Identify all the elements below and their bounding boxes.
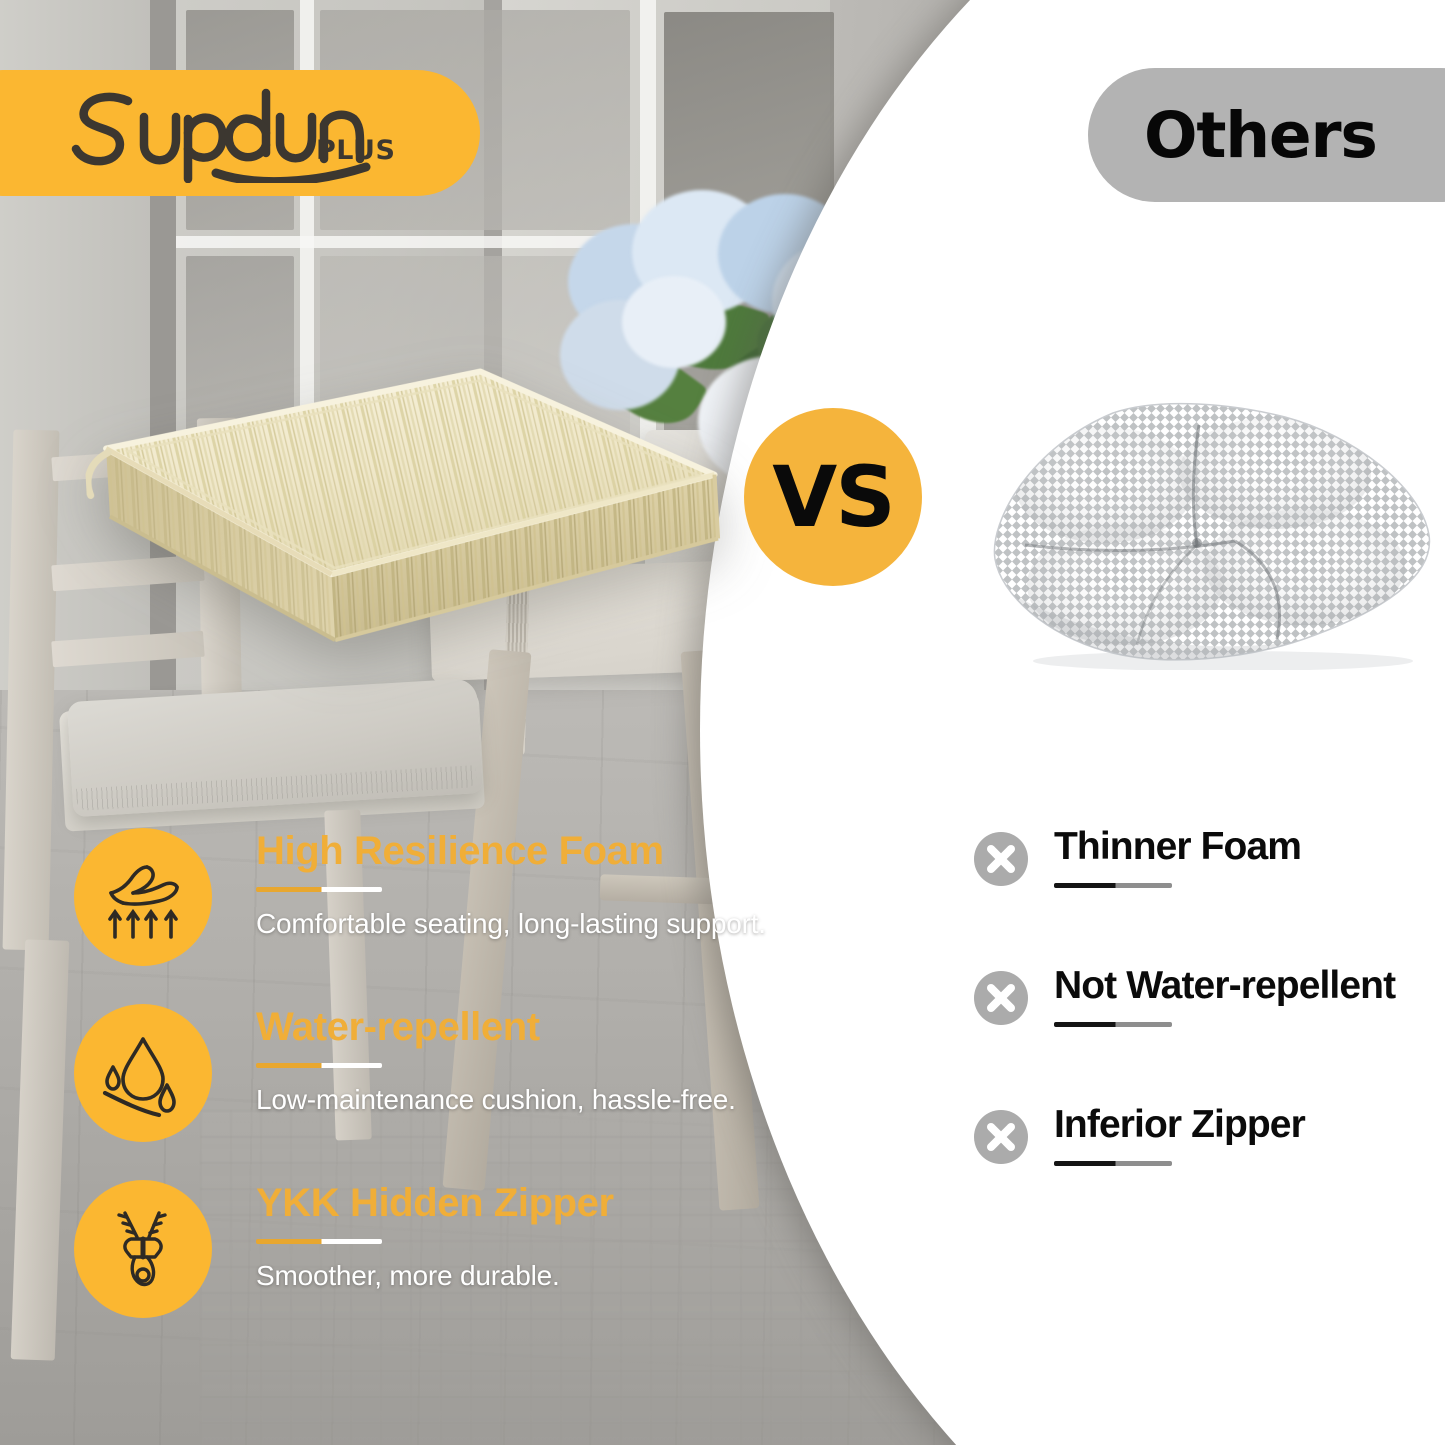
feature-item-high-resilience-foam: High Resilience Foam Comfortable seating… <box>74 822 774 998</box>
feature-description: Comfortable seating, long-lasting suppor… <box>256 908 776 940</box>
con-title: Not Water-repellent <box>1054 965 1444 1008</box>
supdun-plus-logo: PLUS <box>66 83 426 183</box>
others-label-pill: Others <box>1088 68 1445 202</box>
con-divider <box>1054 883 1172 888</box>
con-item-thinner-foam: Thinner Foam <box>974 830 1444 969</box>
feature-text-block: Water-repellent Low-maintenance cushion,… <box>256 1006 776 1116</box>
con-text-block: Thinner Foam <box>1054 826 1444 888</box>
con-title: Inferior Zipper <box>1054 1104 1444 1147</box>
competitor-product-cushion <box>985 395 1440 670</box>
feature-description: Low-maintenance cushion, hassle-free. <box>256 1084 776 1116</box>
feature-text-block: High Resilience Foam Comfortable seating… <box>256 830 776 940</box>
feature-title: YKK Hidden Zipper <box>256 1182 776 1225</box>
hero-product-cushion <box>80 343 728 678</box>
feature-title: Water-repellent <box>256 1006 776 1049</box>
con-text-block: Inferior Zipper <box>1054 1104 1444 1166</box>
feature-divider <box>256 887 382 892</box>
con-title: Thinner Foam <box>1054 826 1444 869</box>
zipper-icon <box>74 1180 212 1318</box>
feature-divider <box>256 1239 382 1244</box>
x-circle-icon <box>974 971 1028 1025</box>
con-divider <box>1054 1161 1172 1166</box>
con-divider <box>1054 1022 1172 1027</box>
vs-label: VS <box>772 455 894 539</box>
hand-support-arrows-icon <box>74 828 212 966</box>
water-droplet-repel-icon <box>74 1004 212 1142</box>
feature-title: High Resilience Foam <box>256 830 776 873</box>
x-circle-icon <box>974 832 1028 886</box>
chair-gray-cushion <box>67 678 483 817</box>
cons-list: Thinner Foam Not Water-repellent <box>974 830 1444 1247</box>
con-text-block: Not Water-repellent <box>1054 965 1444 1027</box>
feature-item-water-repellent: Water-repellent Low-maintenance cushion,… <box>74 998 774 1174</box>
x-circle-icon <box>974 1110 1028 1164</box>
others-label: Others <box>1144 104 1377 167</box>
feature-divider <box>256 1063 382 1068</box>
feature-description: Smoother, more durable. <box>256 1260 776 1292</box>
infographic-root: VS <box>0 0 1445 1445</box>
brand-logo-pill: PLUS <box>0 70 480 196</box>
con-item-not-water-repellent: Not Water-repellent <box>974 969 1444 1108</box>
feature-item-ykk-hidden-zipper: YKK Hidden Zipper Smoother, more durable… <box>74 1174 774 1350</box>
vs-badge: VS <box>744 408 922 586</box>
feature-list: High Resilience Foam Comfortable seating… <box>74 822 774 1350</box>
con-item-inferior-zipper: Inferior Zipper <box>974 1108 1444 1247</box>
svg-text:PLUS: PLUS <box>316 135 395 166</box>
feature-text-block: YKK Hidden Zipper Smoother, more durable… <box>256 1182 776 1292</box>
